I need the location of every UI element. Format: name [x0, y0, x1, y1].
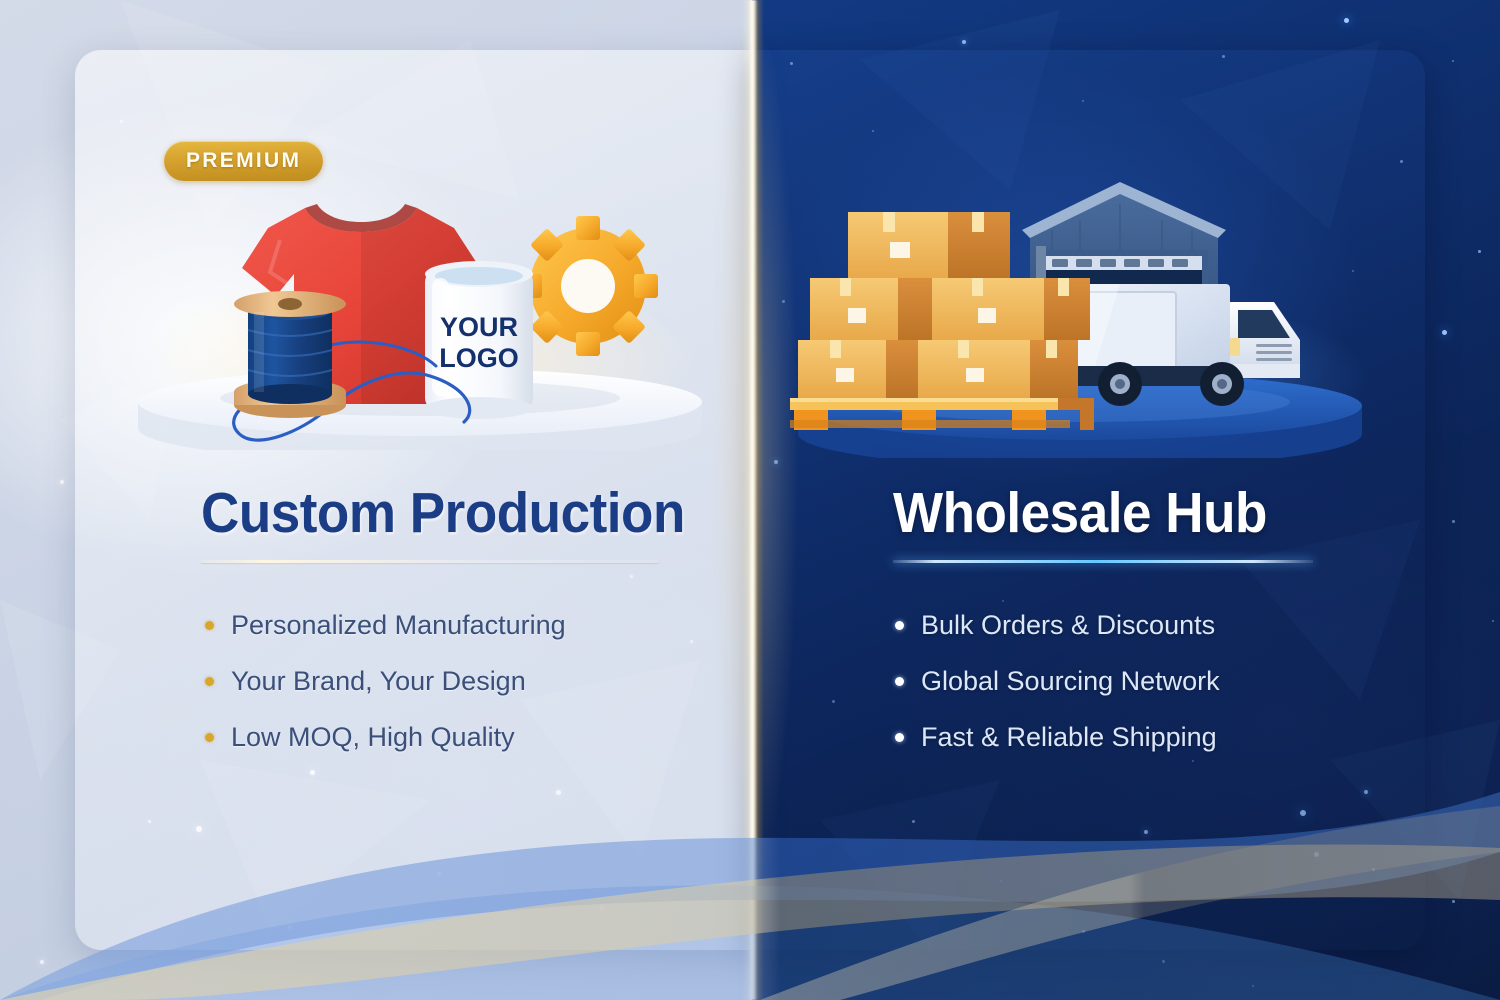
- bullet-dot-icon: [895, 621, 904, 630]
- feature-label: Bulk Orders & Discounts: [921, 612, 1215, 639]
- list-item: Personalized Manufacturing: [205, 597, 566, 653]
- right-panel-title: Wholesale Hub: [893, 485, 1267, 542]
- left-title-divider: [201, 560, 659, 563]
- list-item: Fast & Reliable Shipping: [895, 709, 1220, 765]
- list-item: Low MOQ, High Quality: [205, 709, 566, 765]
- list-item: Your Brand, Your Design: [205, 653, 566, 709]
- bullet-dot-icon: [205, 733, 214, 742]
- bullet-dot-icon: [895, 677, 904, 686]
- bullet-dot-icon: [205, 677, 214, 686]
- left-feature-list: Personalized Manufacturing Your Brand, Y…: [205, 597, 566, 765]
- feature-label: Personalized Manufacturing: [231, 612, 566, 639]
- list-item: Global Sourcing Network: [895, 653, 1220, 709]
- right-title-divider: [893, 560, 1313, 563]
- comparison-banner: YOUR LOGO: [0, 0, 1500, 1000]
- bullet-dot-icon: [205, 621, 214, 630]
- bullet-dot-icon: [895, 733, 904, 742]
- feature-label: Fast & Reliable Shipping: [921, 724, 1217, 751]
- premium-badge[interactable]: PREMIUM: [164, 141, 323, 181]
- feature-label: Low MOQ, High Quality: [231, 724, 515, 751]
- feature-label: Global Sourcing Network: [921, 668, 1220, 695]
- feature-label: Your Brand, Your Design: [231, 668, 526, 695]
- left-panel-title: Custom Production: [201, 485, 685, 542]
- list-item: Bulk Orders & Discounts: [895, 597, 1220, 653]
- right-feature-list: Bulk Orders & Discounts Global Sourcing …: [895, 597, 1220, 765]
